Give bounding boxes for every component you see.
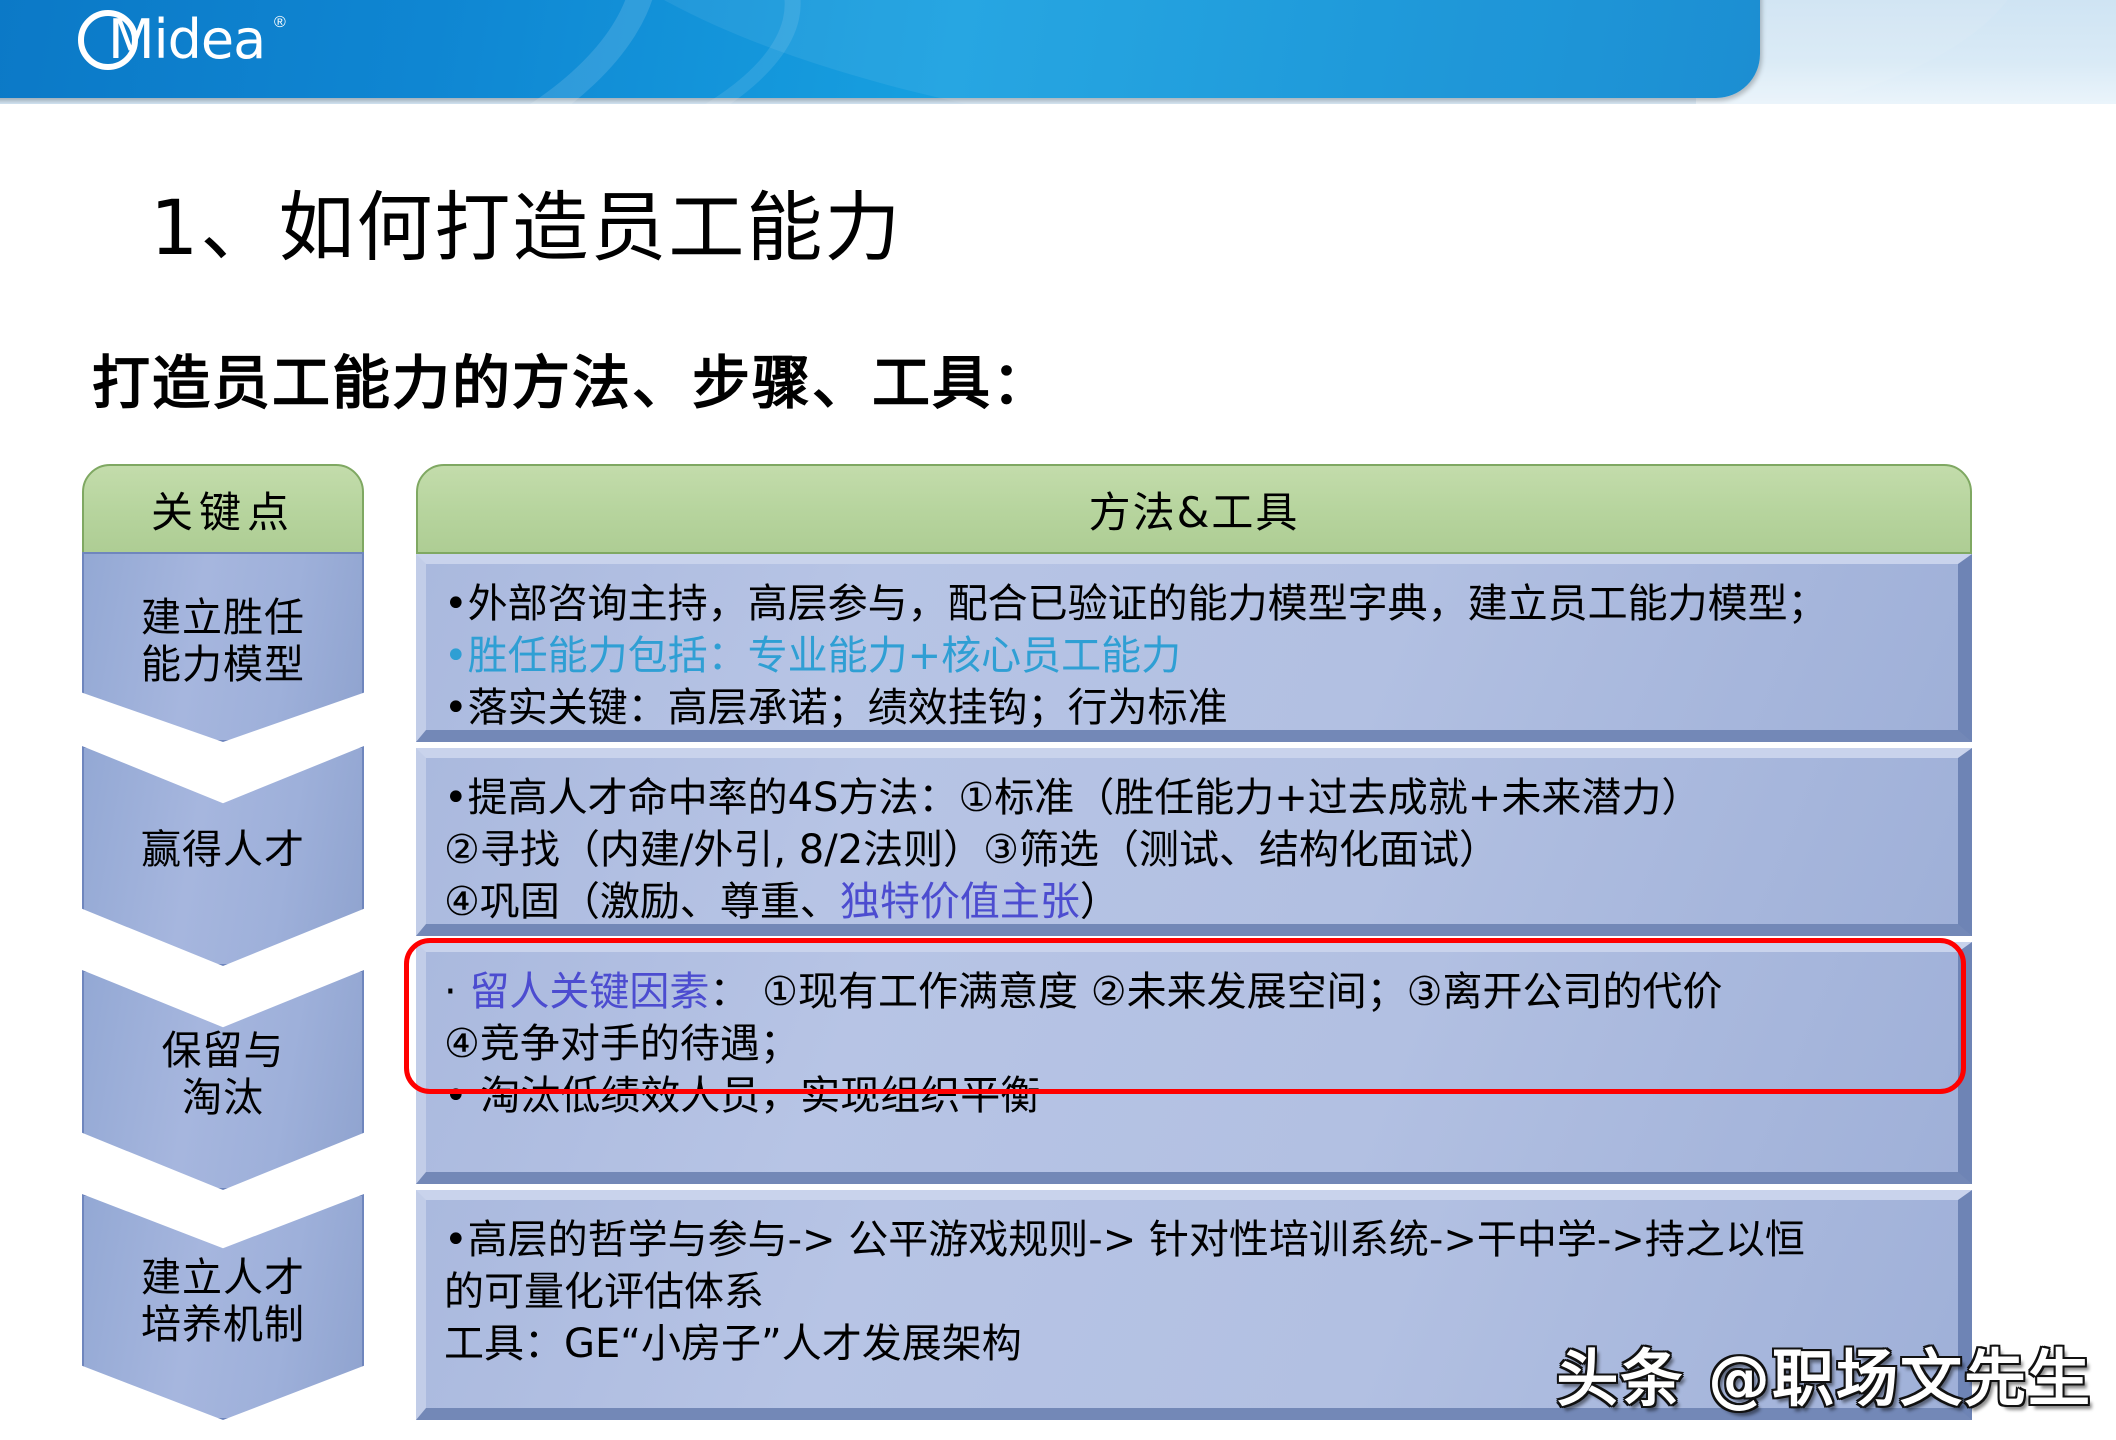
step-1-line-2: 能力模型: [141, 642, 305, 688]
banner-main-bar: Midea ®: [0, 0, 1760, 98]
step-4-line-2: 培养机制: [141, 1302, 305, 1348]
step-chevron-4-label: 建立人才 培养机制: [141, 1255, 305, 1359]
red-highlight-annotation: [404, 938, 1966, 1094]
step-chevron-2-label: 赢得人才: [141, 827, 305, 884]
logo-wordmark: Midea: [108, 10, 265, 70]
logo-registered-mark: ®: [274, 14, 286, 32]
step-2-line-1: 赢得人才: [141, 827, 305, 873]
content-line: •高层的哲学与参与-> 公平游戏规则-> 针对性培训系统->干中学->持之以恒: [444, 1214, 1940, 1266]
step-chevron-1[interactable]: 建立胜任 能力模型: [82, 552, 364, 742]
step-chevron-4[interactable]: 建立人才 培养机制: [82, 1194, 364, 1420]
content-line: •胜任能力包括：专业能力+核心员工能力: [444, 630, 1940, 682]
step-chevron-1-label: 建立胜任 能力模型: [141, 595, 305, 699]
step-chevron-3[interactable]: 保留与 淘汰: [82, 970, 364, 1190]
step-1-line-1: 建立胜任: [141, 595, 305, 641]
step-chevron-2[interactable]: 赢得人才: [82, 746, 364, 966]
column-header-methods-tools: 方法&工具: [416, 464, 1972, 554]
content-line: •外部咨询主持，高层参与，配合已验证的能力模型字典，建立员工能力模型；: [444, 578, 1940, 630]
content-segment: ）: [1080, 879, 1120, 925]
step-chevron-3-label: 保留与 淘汰: [162, 1028, 285, 1132]
midea-logo: Midea ®: [78, 2, 298, 76]
content-line: •落实关键：高层承诺；绩效挂钩；行为标准: [444, 682, 1940, 734]
header-banner: Midea ®: [0, 0, 2116, 104]
content-line: •提高人才命中率的4S方法：①标准（胜任能力+过去成就+未来潜力）: [444, 772, 1940, 824]
content-segment-highlight: 独特价值主张: [840, 879, 1080, 925]
content-box-1[interactable]: •外部咨询主持，高层参与，配合已验证的能力模型字典，建立员工能力模型； •胜任能…: [416, 554, 1972, 742]
step-4-line-1: 建立人才: [141, 1255, 305, 1301]
content-line: 的可量化评估体系: [444, 1266, 1940, 1318]
content-box-2[interactable]: •提高人才命中率的4S方法：①标准（胜任能力+过去成就+未来潜力） ②寻找（内建…: [416, 748, 1972, 936]
content-segment: ④巩固（激励、尊重、: [444, 879, 840, 925]
page-subtitle: 打造员工能力的方法、步骤、工具：: [92, 336, 1052, 420]
step-3-line-2: 淘汰: [182, 1075, 264, 1121]
content-line-mixed: ④巩固（激励、尊重、独特价值主张）: [444, 876, 1940, 928]
watermark: 头条 @职场文先生: [1556, 1328, 2092, 1418]
page-title: 1、如何打造员工能力: [150, 166, 902, 276]
content-line: ②寻找（内建/外引, 8/2法则）③筛选（测试、结构化面试）: [444, 824, 1940, 876]
column-header-key-points: 关键点: [82, 464, 364, 554]
step-3-line-1: 保留与: [162, 1028, 285, 1074]
